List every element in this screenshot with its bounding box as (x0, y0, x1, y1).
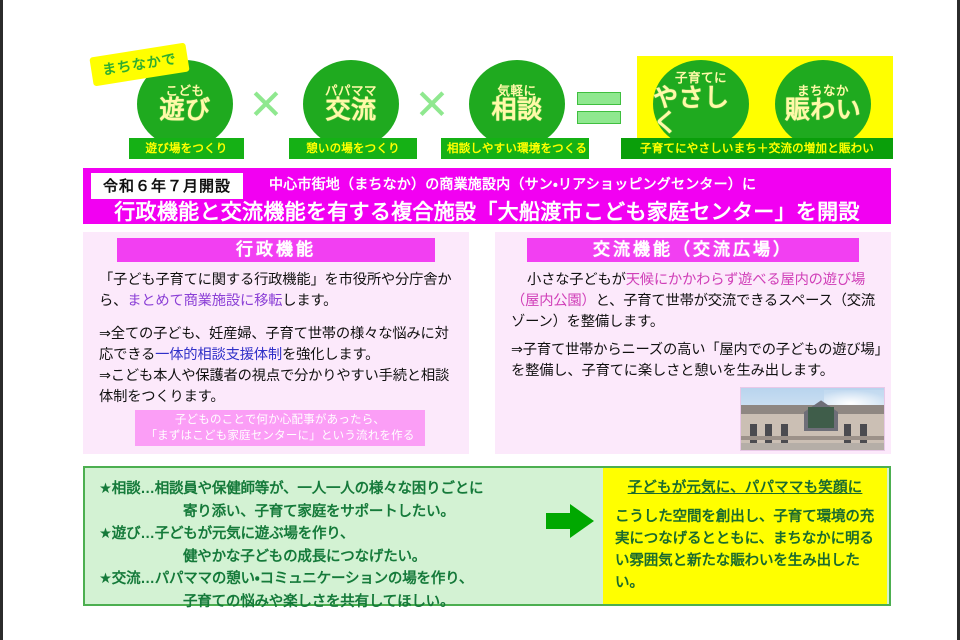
panel-left-p1-highlight: まとめて商業施設に移転 (127, 293, 282, 309)
goal-koryu-line-2: 子育ての悩みや楽しさを共有してほしい。 (99, 591, 599, 614)
goal-asobi-line-2: 健やかな子どもの成長につなげたい。 (99, 546, 599, 569)
panel-left-note: 子どものことで何か心配事があったら、 「まずはこども家庭センターに」という流れを… (135, 410, 425, 446)
times-operator-icon: ✕ (411, 90, 453, 124)
concept-caption-sodan: 相談しやすい環境をつくる (441, 138, 589, 159)
arrow-head (570, 504, 594, 538)
photo-ground (741, 443, 884, 450)
panel-right-p1-a: 小さな子どもが (527, 272, 626, 288)
panel-right-title: 交流機能（交流広場） (527, 238, 859, 262)
panel-left-note-line-2: 「まずはこども家庭センターに」という流れを作る (135, 428, 425, 444)
panel-exchange-functions: 交流機能（交流広場） 小さな子どもが天候にかかわらず遊べる屋内の遊び場（屋内公園… (495, 232, 891, 454)
concept-circle-sub: 子育てに (675, 72, 727, 85)
panel-left-paragraph-2: ⇒全ての子ども、妊産婦、子育て世帯の様々な悩みに対応できる一体的相談支援体制を強… (99, 324, 459, 366)
right-arrow-icon (546, 504, 594, 538)
panel-left-paragraph-3: ⇒こども本人や保護者の視点で分かりやすい手続と相談体制をつくります。 (99, 366, 459, 408)
announcement-title: 行政機能と交流機能を有する複合施設「大船渡市こども家庭センター」を開設 (83, 196, 891, 226)
goals-bullet-list: ★相談…相談員や保健師等が、一人一人の様々な困りごとに 寄り添い、子育て家庭をサ… (99, 478, 599, 613)
concept-circle-koryu: パパママ 交流 (303, 60, 399, 148)
concept-circle-main: やさしく (653, 86, 749, 136)
panel-right-paragraph-1: 小さな子どもが天候にかかわらず遊べる屋内の遊び場（屋内公園）と、子育て世帯が交流… (511, 270, 883, 333)
shopping-center-photo (740, 387, 885, 451)
concept-caption-asobi: 遊び場をつくり (129, 138, 244, 159)
concept-caption-koryu: 憩いの場をつくり (289, 138, 417, 159)
arrow-shaft (546, 513, 572, 529)
concept-circle-sodan: 気軽に 相談 (469, 60, 565, 148)
times-operator-icon: ✕ (245, 90, 287, 124)
photo-awning (741, 436, 884, 440)
concept-circle-main: 交流 (325, 98, 376, 123)
concept-banner: こども 遊び ✕ パパママ 交流 ✕ 気軽に 相談 子育てに やさしく まちなか… (81, 46, 893, 162)
photo-gable-glass (808, 407, 834, 428)
equals-operator-icon (577, 92, 621, 130)
poster-page: こども 遊び ✕ パパママ 交流 ✕ 気軽に 相談 子育てに やさしく まちなか… (0, 0, 960, 640)
goal-sodan-line-1: ★相談…相談員や保健師等が、一人一人の様々な困りごとに (99, 478, 599, 501)
concept-circle-nigiwai: まちなか 賑わい (775, 60, 871, 148)
goal-asobi-line-1: ★遊び…子どもが元気に遊ぶ場を作り、 (99, 523, 599, 546)
panel-administrative-functions: 行政機能 「子ども子育てに関する行政機能」を市役所や分庁舎から、まとめて商業施設… (83, 232, 469, 454)
concept-circle-main: 賑わい (785, 98, 862, 123)
panel-left-title: 行政機能 (117, 238, 435, 262)
concept-circle-main: 遊び (159, 98, 210, 123)
goal-koryu-line-1: ★交流…パパママの憩い・コミュニケーションの場を作り、 (99, 568, 599, 591)
vision-callout-box: 子どもが元気に、パパママも笑顔に こうした空間を創出し、子育て環境の充実につなげ… (603, 468, 887, 604)
concept-circle-yasashiku: 子育てに やさしく (653, 60, 749, 148)
panel-left-paragraph-1: 「子ども子育てに関する行政機能」を市役所や分庁舎から、まとめて商業施設に移転しま… (99, 270, 459, 312)
goal-sodan-line-2: 寄り添い、子育て家庭をサポートしたい。 (99, 501, 599, 524)
concept-circle-main: 相談 (491, 98, 542, 123)
panel-left-p2-highlight: 一体的相談支援体制 (155, 347, 282, 363)
vision-body: こうした空間を創出し、子育て環境の充実につなげるとともに、まちなかに明るい雰囲気… (615, 506, 877, 594)
announcement-header: 令和６年７月開設 中心市街地（まちなか）の商業施設内（サン・リアショッピングセン… (83, 168, 891, 224)
concept-caption-outcome: 子育てにやさしいまち＋交流の増加と賑わい (621, 138, 893, 159)
panel-left-p1-b: します。 (282, 293, 337, 309)
panel-left-note-line-1: 子どものことで何か心配事があったら、 (135, 412, 425, 428)
vision-title: 子どもが元気に、パパママも笑顔に (603, 476, 887, 497)
panel-right-paragraph-2: ⇒子育て世帯からニーズの高い「屋内での子どもの遊び場」を整備し、子育てに楽しさと… (511, 340, 883, 382)
announcement-subtitle: 中心市街地（まちなか）の商業施設内（サン・リアショッピングセンター）に (269, 174, 756, 194)
panel-left-p2-b: を強化します。 (282, 347, 379, 363)
